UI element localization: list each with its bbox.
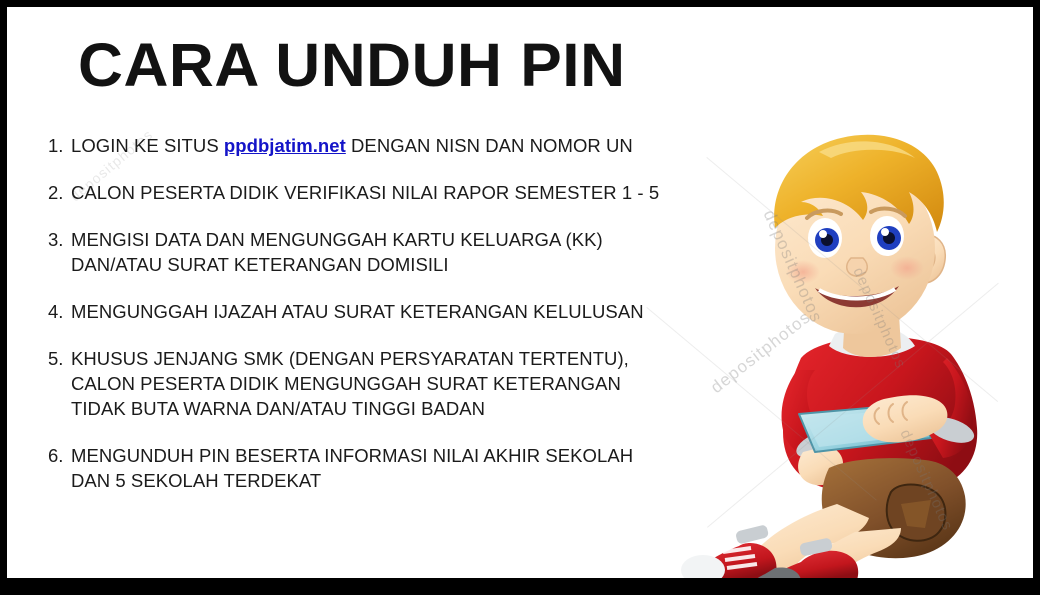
- step-text-line: DAN 5 SEKOLAH TERDEKAT: [71, 468, 691, 493]
- watermark-text: depositphotos: [707, 307, 815, 398]
- step-number: 2.: [41, 180, 71, 205]
- watermark-text: depositphotos: [759, 207, 827, 326]
- watermark-line: [707, 283, 999, 528]
- watermark-line: [706, 157, 998, 402]
- step-text: MENGISI DATA DAN MENGUNGGAH KARTU KELUAR…: [71, 227, 691, 277]
- step-item: 4.MENGUNGGAH IJAZAH ATAU SURAT KETERANGA…: [41, 299, 691, 324]
- step-text-run: CALON PESERTA DIDIK VERIFIKASI NILAI RAP…: [71, 182, 659, 203]
- boy-head: [774, 135, 945, 334]
- cartoon-boy-illustration: [679, 108, 1033, 578]
- step-text: MENGUNDUH PIN BESERTA INFORMASI NILAI AK…: [71, 443, 691, 493]
- tablet-device: [799, 404, 931, 452]
- step-text-line: LOGIN KE SITUS ppdbjatim.net DENGAN NISN…: [71, 133, 691, 158]
- step-item: 2.CALON PESERTA DIDIK VERIFIKASI NILAI R…: [41, 180, 691, 205]
- slide-frame: CARA UNDUH PIN 1.LOGIN KE SITUS ppdbjati…: [0, 0, 1040, 595]
- step-text-run: DAN/ATAU SURAT KETERANGAN DOMISILI: [71, 254, 449, 275]
- step-text-line: MENGUNGGAH IJAZAH ATAU SURAT KETERANGAN …: [71, 299, 691, 324]
- step-text-run: MENGISI DATA DAN MENGUNGGAH KARTU KELUAR…: [71, 229, 603, 250]
- watermark-text: depositphotos: [849, 265, 909, 372]
- step-text-run: LOGIN KE SITUS: [71, 135, 224, 156]
- step-text-line: TIDAK BUTA WARNA DAN/ATAU TINGGI BADAN: [71, 396, 691, 421]
- step-item: 1.LOGIN KE SITUS ppdbjatim.net DENGAN NI…: [41, 133, 691, 158]
- step-text-line: CALON PESERTA DIDIK VERIFIKASI NILAI RAP…: [71, 180, 691, 205]
- step-text: KHUSUS JENJANG SMK (DENGAN PERSYARATAN T…: [71, 346, 691, 421]
- step-number: 3.: [41, 227, 71, 252]
- step-number: 4.: [41, 299, 71, 324]
- slide-canvas: CARA UNDUH PIN 1.LOGIN KE SITUS ppdbjati…: [7, 7, 1033, 578]
- step-text-run: MENGUNGGAH IJAZAH ATAU SURAT KETERANGAN …: [71, 301, 644, 322]
- step-text-run: MENGUNDUH PIN BESERTA INFORMASI NILAI AK…: [71, 445, 633, 466]
- step-text-run: KHUSUS JENJANG SMK (DENGAN PERSYARATAN T…: [71, 348, 629, 369]
- watermark-text: depositphotos: [896, 427, 956, 534]
- step-text: CALON PESERTA DIDIK VERIFIKASI NILAI RAP…: [71, 180, 691, 205]
- step-number: 5.: [41, 346, 71, 371]
- boy-shoes: [681, 524, 858, 578]
- boy-legs: [743, 504, 901, 578]
- step-text-line: DAN/ATAU SURAT KETERANGAN DOMISILI: [71, 252, 691, 277]
- step-text-run: TIDAK BUTA WARNA DAN/ATAU TINGGI BADAN: [71, 398, 485, 419]
- boy-shorts: [822, 458, 966, 558]
- step-item: 3.MENGISI DATA DAN MENGUNGGAH KARTU KELU…: [41, 227, 691, 277]
- page-title: CARA UNDUH PIN: [78, 33, 626, 97]
- step-text-line: MENGUNDUH PIN BESERTA INFORMASI NILAI AK…: [71, 443, 691, 468]
- step-text-run: DENGAN NISN DAN NOMOR UN: [346, 135, 633, 156]
- step-text-run: CALON PESERTA DIDIK MENGUNGGAH SURAT KET…: [71, 373, 621, 394]
- boy-right-arm: [863, 358, 977, 458]
- step-number: 1.: [41, 133, 71, 158]
- step-text-line: KHUSUS JENJANG SMK (DENGAN PERSYARATAN T…: [71, 346, 691, 371]
- boy-torso: [783, 326, 977, 495]
- step-item: 5.KHUSUS JENJANG SMK (DENGAN PERSYARATAN…: [41, 346, 691, 421]
- boy-left-arm: [782, 370, 846, 485]
- step-text-line: MENGISI DATA DAN MENGUNGGAH KARTU KELUAR…: [71, 227, 691, 252]
- step-item: 6.MENGUNDUH PIN BESERTA INFORMASI NILAI …: [41, 443, 691, 493]
- step-text: MENGUNGGAH IJAZAH ATAU SURAT KETERANGAN …: [71, 299, 691, 324]
- step-text-run: DAN 5 SEKOLAH TERDEKAT: [71, 470, 321, 491]
- ppdbjatim-link[interactable]: ppdbjatim.net: [224, 135, 346, 156]
- step-text: LOGIN KE SITUS ppdbjatim.net DENGAN NISN…: [71, 133, 691, 158]
- step-text-line: CALON PESERTA DIDIK MENGUNGGAH SURAT KET…: [71, 371, 691, 396]
- steps-list: 1.LOGIN KE SITUS ppdbjatim.net DENGAN NI…: [41, 133, 691, 515]
- step-number: 6.: [41, 443, 71, 468]
